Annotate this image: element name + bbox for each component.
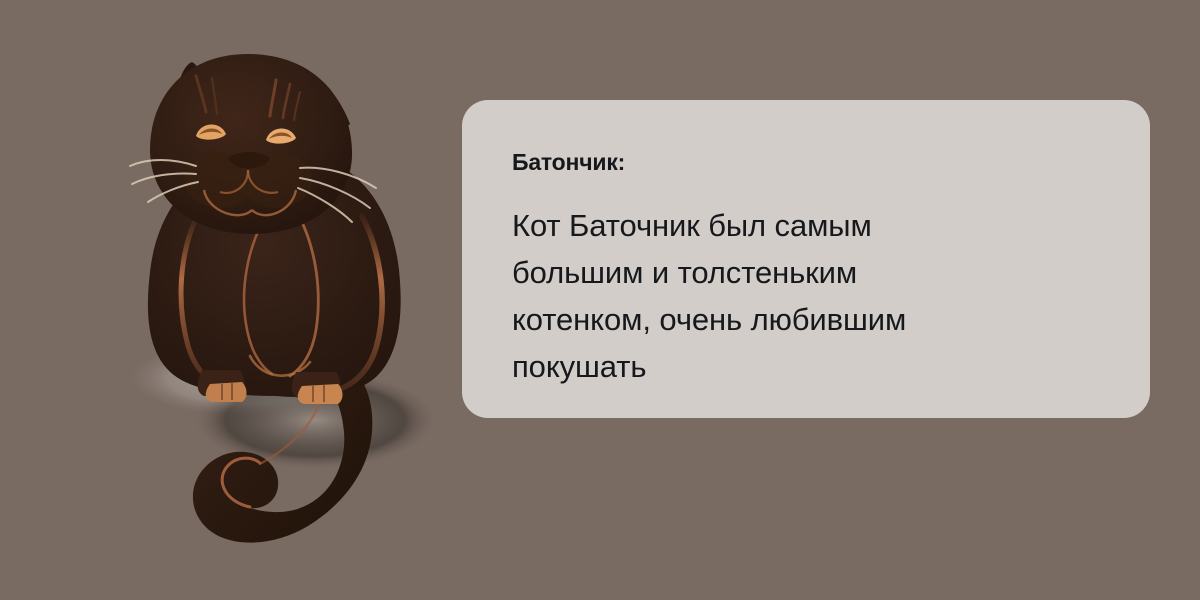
- speaker-name: Батончик:: [512, 148, 1100, 176]
- message-line: большим и толстеньким: [512, 249, 1100, 296]
- message-line: котенком, очень любившим: [512, 296, 1100, 343]
- cat-illustration: [100, 40, 460, 585]
- message-body: Кот Баточник был самым большим и толстен…: [512, 202, 1100, 390]
- scene-root: Батончик: Кот Баточник был самым большим…: [0, 0, 1200, 600]
- speech-card: Батончик: Кот Баточник был самым большим…: [462, 100, 1150, 418]
- message-line: покушать: [512, 343, 1100, 390]
- message-line: Кот Баточник был самым: [512, 202, 1100, 249]
